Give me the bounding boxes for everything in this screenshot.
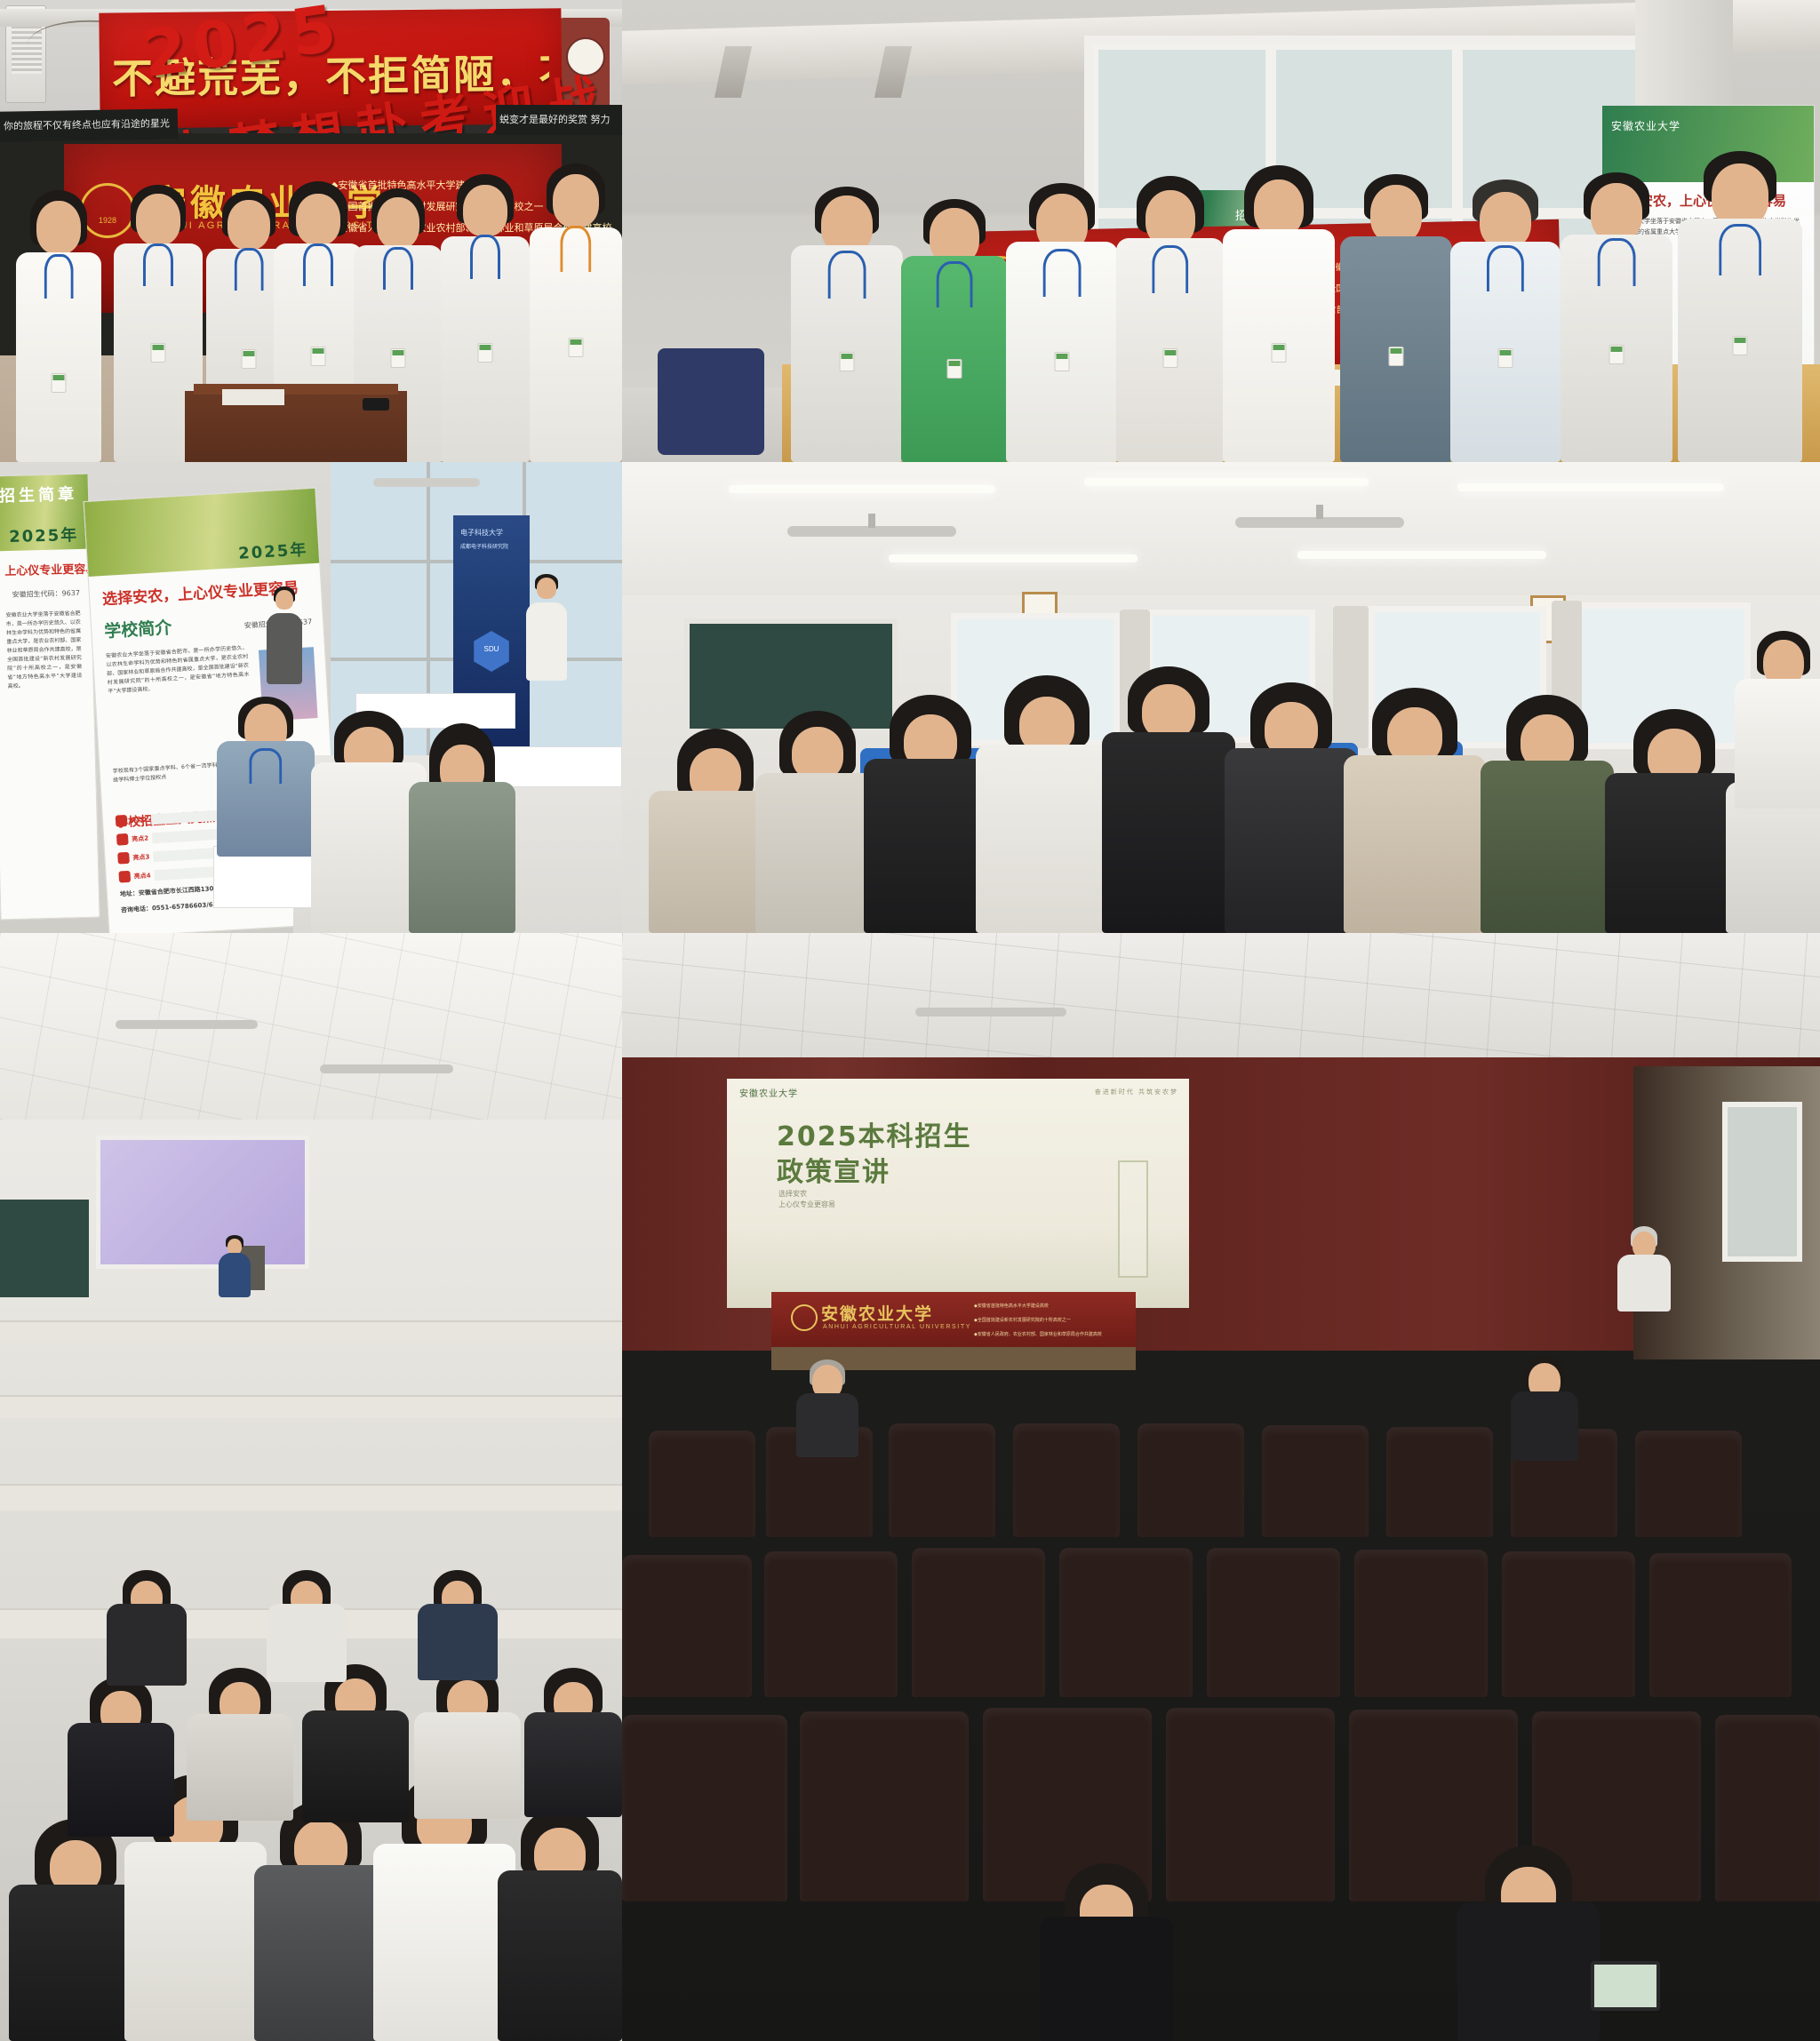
badge — [242, 349, 257, 369]
ceiling-fan — [320, 1064, 453, 1073]
person-background — [267, 586, 302, 684]
auditorium-seat — [1386, 1427, 1493, 1537]
podium-bullet-1: ◆安徽省首批特色高水平大学建设高校 — [974, 1303, 1049, 1309]
person — [9, 1819, 142, 2041]
highlight-label: 亮点3 — [132, 852, 149, 862]
auditorium-seat — [649, 1431, 755, 1537]
panel-corridor-thumbs-up-photo: 安徽农业大学 选择安农，上心仪专业更容易 安徽农业大学坐落于安徽省合肥市，历史悠… — [622, 0, 1820, 462]
rollup-badge-icon — [471, 631, 512, 672]
ceiling-fan — [116, 1020, 258, 1029]
slide-subtitle-line1: 选择安农 — [778, 1189, 807, 1200]
person — [1344, 688, 1486, 933]
auditorium-seat — [1013, 1423, 1120, 1537]
tablet-device — [1591, 1961, 1660, 2011]
poster-left-year: 2025年 — [9, 522, 79, 547]
highlight-label: 亮点4 — [133, 871, 150, 881]
person — [254, 1801, 387, 2041]
podium-bullet-3: ◆安徽省人民政府、农业农村部、国家林业和草原局合作共建高校 — [974, 1331, 1102, 1337]
panel-classroom-group-photo: 不避荒芜，不拒简陋，不惜破碎。 2025 为梦想赴考迎战高考 你的旅程不仅有终点… — [0, 0, 622, 462]
auditorium-seat — [1137, 1423, 1244, 1537]
lecture-desk-row — [0, 1484, 622, 1511]
person — [976, 675, 1118, 933]
podium-university-name-cn: 安徽农业大学 — [821, 1301, 933, 1325]
badge — [478, 343, 493, 363]
person — [530, 169, 622, 462]
projection-screen — [96, 1136, 309, 1269]
auditorium-seat — [1207, 1548, 1340, 1697]
poster-main-year: 2025年 — [237, 537, 308, 564]
person-audience — [796, 1359, 858, 1457]
university-seal-icon — [791, 1304, 818, 1331]
ceiling-tile-grid — [622, 933, 1820, 1066]
badge — [840, 352, 855, 371]
auditorium-seat — [1715, 1715, 1820, 1901]
auditorium-seat — [800, 1711, 969, 1901]
photo-collage: 不避荒芜，不拒简陋，不惜破碎。 2025 为梦想赴考迎战高考 你的旅程不仅有终点… — [0, 0, 1820, 2041]
poster-left-header: 招生简章 — [0, 482, 77, 506]
badge — [391, 348, 406, 368]
podium-university-name-en: ANHUI AGRICULTURAL UNIVERSITY — [823, 1324, 971, 1330]
lecture-desk-row — [0, 1320, 622, 1342]
slide-corner-text: 奋进新时代 共筑安农梦 — [1095, 1088, 1178, 1096]
person-speaker — [1617, 1226, 1671, 1312]
person — [1116, 179, 1225, 462]
poster-header-band: 招生简章 2025年 — [0, 474, 90, 552]
poster-main-section-title: 学校简介 — [104, 615, 172, 642]
bullet-icon — [116, 815, 128, 827]
badge — [1163, 348, 1178, 368]
fluorescent-light — [1297, 551, 1546, 559]
fluorescent-light — [1457, 483, 1724, 491]
person — [1225, 682, 1358, 933]
person-staff — [1735, 631, 1820, 809]
ceiling-tile-grid — [0, 933, 622, 1120]
window — [1722, 1102, 1802, 1262]
slide-title-line2: 政策宣讲 — [777, 1150, 890, 1189]
lecture-desk-row — [0, 1395, 622, 1418]
slide-logo-text: 安徽农业大学 — [739, 1086, 798, 1099]
fluorescent-light — [889, 554, 1137, 562]
bullet-icon — [117, 852, 130, 865]
badge — [569, 338, 584, 357]
auditorium-seat — [622, 1715, 787, 1901]
panel-lecture-room-briefing-photo: GD PLAY — [0, 933, 622, 2041]
person-visitor — [409, 723, 515, 933]
person — [901, 199, 1008, 462]
auditorium-seat — [889, 1423, 995, 1537]
badge — [1055, 352, 1070, 371]
person — [1006, 185, 1118, 462]
person — [755, 711, 880, 933]
person — [791, 187, 903, 462]
person — [302, 1664, 409, 1822]
badge — [52, 373, 67, 393]
badge — [1389, 347, 1404, 366]
podium-banner: 安徽农业大学 ANHUI AGRICULTURAL UNIVERSITY ◆安徽… — [771, 1292, 1136, 1347]
auditorium-seat — [1262, 1425, 1369, 1537]
bullet-icon — [116, 833, 129, 846]
auditorium-seat — [912, 1548, 1045, 1697]
panel-auditorium-briefing-photo: 安徽农业大学 奋进新时代 共筑安农梦 2025本科招生 政策宣讲 选择安农 上心… — [622, 933, 1820, 2041]
chalk-text-left: 你的旅程不仅有终点也应有沿途的星光 — [0, 108, 178, 141]
ceiling-fan — [915, 1008, 1066, 1017]
equipment-cart — [658, 348, 764, 455]
rollup-title: 电子科技大学 — [460, 528, 503, 538]
person-audience — [1511, 1356, 1578, 1461]
poster-left-slogan: 上心仪专业更容易 — [4, 559, 97, 578]
auditorium-seat — [1502, 1551, 1635, 1697]
auditorium-seat — [1649, 1553, 1792, 1697]
paper-stack — [222, 389, 284, 405]
slide-title-line1: 2025本科招生 — [777, 1114, 972, 1153]
person-audience — [1040, 1863, 1173, 2041]
highlight-label: 亮点1 — [131, 815, 148, 825]
auditorium-seat — [1354, 1550, 1488, 1697]
person-background — [526, 574, 567, 681]
person-staff — [217, 697, 315, 857]
bullet-icon — [118, 871, 131, 883]
poster-logo-text: 安徽农业大学 — [1611, 118, 1680, 133]
ceiling-fan — [1235, 517, 1404, 528]
person — [267, 1570, 347, 1682]
person — [1223, 169, 1335, 462]
person-audience — [1457, 1846, 1600, 2041]
person — [1481, 695, 1614, 933]
presentation-slide: 安徽农业大学 奋进新时代 共筑安农梦 2025本科招生 政策宣讲 选择安农 上心… — [727, 1079, 1189, 1308]
fluorescent-light — [729, 485, 995, 493]
mobile-phone — [363, 398, 389, 411]
badge — [1272, 343, 1287, 363]
badge — [151, 343, 166, 363]
badge — [947, 359, 962, 379]
auditorium-seat — [764, 1551, 898, 1697]
blackboard — [0, 1200, 89, 1297]
rollup-subtitle: 成都电子科技研究院 — [460, 542, 508, 550]
podium-bullet-2: ◆全国首批建设新农村发展研究院的十所高校之一 — [974, 1317, 1071, 1323]
person — [418, 1570, 498, 1680]
panel-crowded-consultation-room-photo — [622, 462, 1820, 933]
panel-consultation-desk-photo: 招生简章 2025年 上心仪专业更容易 安徽招生代码：9637 安徽农业大学坐落… — [0, 462, 622, 933]
ceiling-fan — [787, 526, 956, 537]
poster-header-band: 2025年 — [84, 489, 320, 577]
person — [1450, 181, 1561, 462]
person — [1340, 176, 1452, 462]
person — [1561, 174, 1672, 462]
person-presenter — [219, 1235, 251, 1297]
badge — [311, 347, 326, 366]
auditorium-seat — [1635, 1431, 1742, 1537]
slide-clocktower-graphic — [1118, 1160, 1148, 1278]
person — [414, 1666, 521, 1819]
poster-left-body: 安徽农业大学坐落于安徽省合肥市，是一所办学历史悠久、以农林生命学科为优势和特色的… — [5, 610, 82, 691]
person — [187, 1668, 293, 1821]
person — [107, 1570, 187, 1686]
chalk-text-right: 蜕变才是最好的奖赏 努力 — [496, 105, 622, 135]
badge — [1733, 336, 1748, 355]
person — [1605, 709, 1744, 933]
person — [524, 1668, 622, 1817]
slide-subtitle-line2: 上心仪专业更容易 — [778, 1200, 835, 1210]
badge — [1498, 348, 1513, 368]
person — [68, 1677, 174, 1837]
auditorium-seat — [1059, 1548, 1193, 1697]
badge — [1609, 345, 1624, 364]
ceiling-fan — [373, 478, 480, 487]
person — [16, 195, 101, 462]
auditorium-seat — [622, 1555, 752, 1697]
person — [498, 1808, 622, 2041]
poster-left-code: 安徽招生代码：9637 — [12, 588, 80, 600]
fluorescent-light — [1084, 478, 1369, 486]
person — [1102, 666, 1235, 933]
person — [441, 178, 530, 462]
highlight-label: 亮点2 — [132, 833, 148, 843]
poster-main-body: 安徽农业大学坐落于安徽省合肥市，是一所办学历史悠久、以农林生命学科为优势和特色的… — [106, 644, 251, 697]
auditorium-seat — [1166, 1708, 1335, 1901]
person — [1678, 155, 1802, 462]
